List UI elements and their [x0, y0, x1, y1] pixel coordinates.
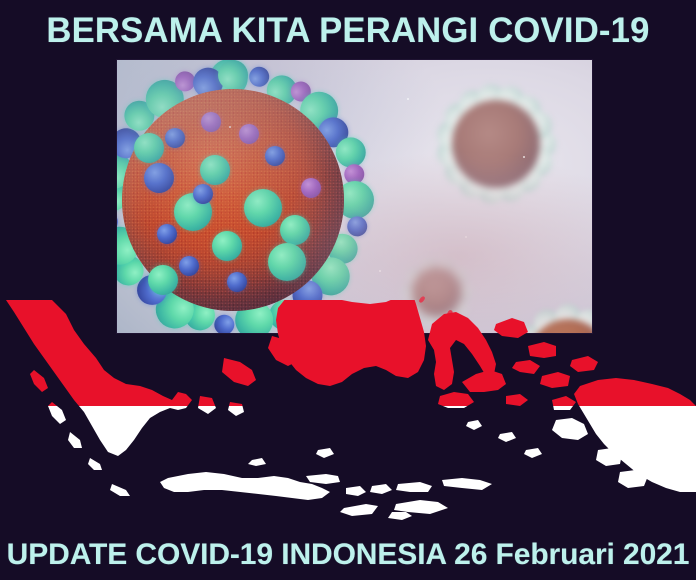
- background-virion-icon: [432, 80, 560, 208]
- indonesia-silhouette: [0, 300, 696, 520]
- sars-cov-2-virion-photo: [117, 60, 592, 333]
- page-title: BERSAMA KITA PERANGI COVID-19: [3, 11, 692, 51]
- indonesia-map: [0, 300, 696, 520]
- main-virion-icon: [117, 60, 383, 333]
- covid-poster: BERSAMA KITA PERANGI COVID-19: [0, 0, 696, 580]
- update-date-label: UPDATE COVID-19 INDONESIA 26 Februari 20…: [0, 537, 696, 573]
